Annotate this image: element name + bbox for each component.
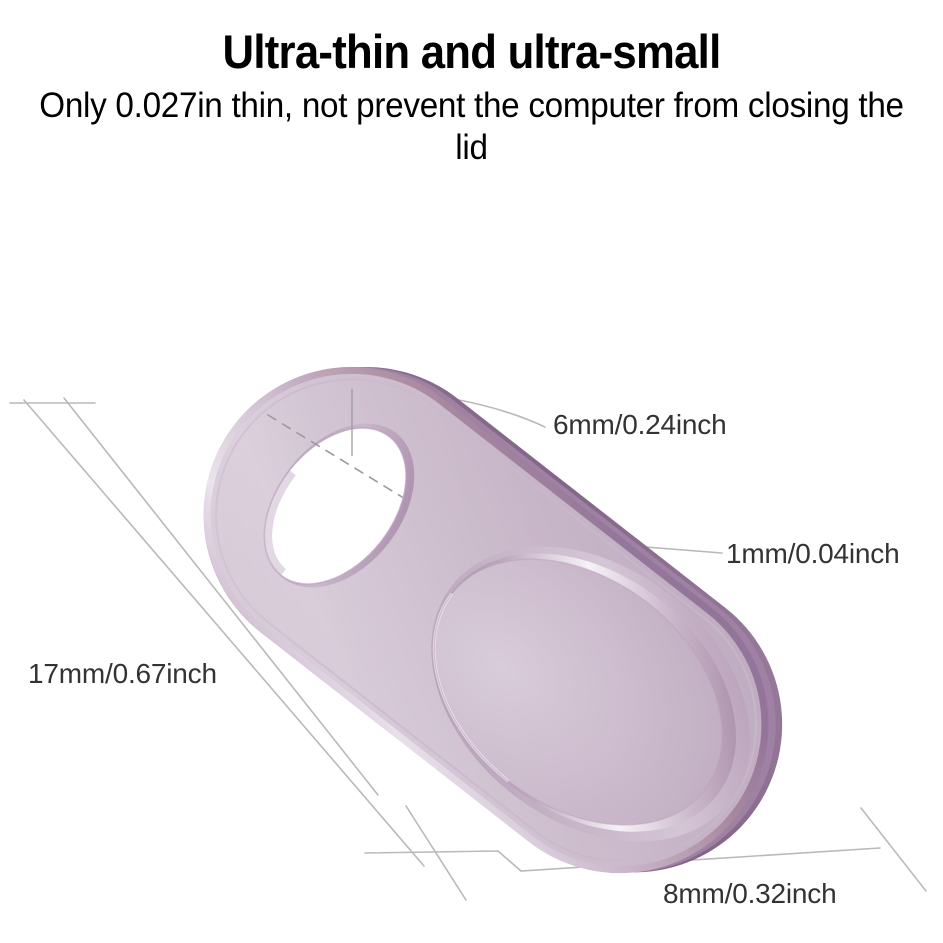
product-illustration-stage (0, 0, 943, 943)
dimension-label-width: 6mm/0.24inch (553, 409, 726, 441)
dimension-label-depth: 8mm/0.32inch (663, 878, 836, 910)
dimension-label-length: 17mm/0.67inch (28, 658, 217, 690)
product-svg (0, 0, 943, 943)
dimension-label-thickness: 1mm/0.04inch (726, 538, 899, 570)
product-dimension-infographic: Ultra-thin and ultra-small Only 0.027in … (0, 0, 943, 943)
depth-extension-right (861, 808, 926, 891)
product-body (144, 301, 842, 940)
